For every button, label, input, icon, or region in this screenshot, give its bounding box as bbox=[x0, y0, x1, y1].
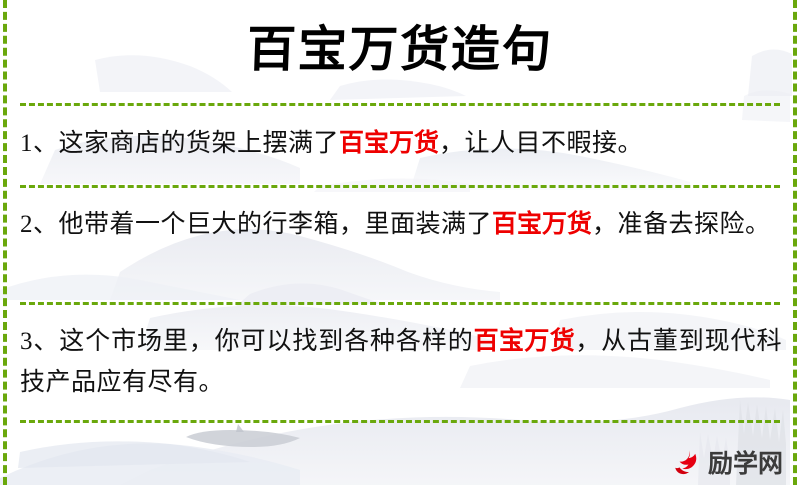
sentence-index: 3、 bbox=[20, 328, 59, 355]
site-logo[interactable]: 励学网 bbox=[673, 447, 783, 479]
sentence-text-after: ，让人目不暇接。 bbox=[439, 130, 643, 157]
separator-1 bbox=[20, 185, 780, 188]
sentence-index: 1、 bbox=[20, 130, 59, 157]
idiom-highlight: 百宝万货 bbox=[492, 209, 592, 238]
worksheet-page: 百宝万货造句 1、这家商店的货架上摆满了百宝万货，让人目不暇接。 2、他带着一个… bbox=[0, 0, 800, 485]
sentence-text-before: 这个市场里，你可以找到各种各样的 bbox=[59, 328, 473, 355]
right-dashed-border bbox=[793, 0, 797, 485]
idiom-highlight: 百宝万货 bbox=[474, 326, 576, 355]
sentence-item: 3、这个市场里，你可以找到各种各样的百宝万货，从古董到现代科技产品应有尽有。 bbox=[20, 320, 782, 403]
flame-swirl-icon bbox=[673, 448, 703, 478]
page-title: 百宝万货造句 bbox=[0, 14, 800, 86]
separator-title bbox=[20, 103, 780, 106]
logo-wordmark: 励学网 bbox=[708, 451, 783, 476]
sentence-item: 2、他带着一个巨大的行李箱，里面装满了百宝万货，准备去探险。 bbox=[20, 203, 782, 245]
sentence-text-after: ，准备去探险。 bbox=[592, 211, 771, 238]
sentence-text-before: 这家商店的货架上摆满了 bbox=[59, 130, 340, 157]
sentence-text-before: 他带着一个巨大的行李箱，里面装满了 bbox=[59, 211, 493, 238]
separator-3 bbox=[20, 420, 780, 423]
sentence-index: 2、 bbox=[20, 211, 59, 238]
separator-2 bbox=[20, 302, 780, 305]
idiom-highlight: 百宝万货 bbox=[339, 128, 439, 157]
left-dashed-border bbox=[3, 0, 7, 485]
sentence-item: 1、这家商店的货架上摆满了百宝万货，让人目不暇接。 bbox=[20, 122, 782, 164]
